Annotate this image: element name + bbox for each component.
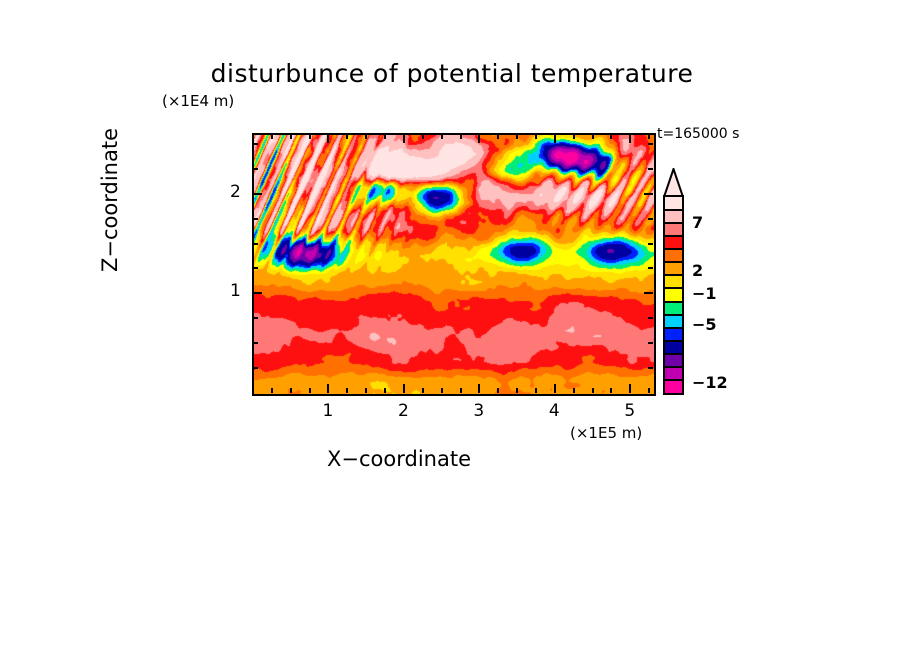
tick-mark (253, 367, 258, 369)
tick-mark (478, 134, 480, 143)
tick-mark (648, 267, 653, 269)
tick-mark (573, 388, 575, 393)
tick-mark (422, 388, 424, 393)
plot-area (252, 133, 656, 396)
x-axis-title: X−coordinate (0, 447, 904, 471)
tick-mark (309, 388, 311, 393)
tick-mark (648, 388, 650, 393)
tick-mark (648, 143, 653, 145)
tick-mark (535, 388, 537, 393)
colorbar-divider (665, 261, 682, 263)
tick-mark (403, 134, 405, 143)
x-tick-label: 1 (322, 401, 333, 421)
tick-mark (384, 134, 386, 139)
colorbar-tick-label: 2 (692, 261, 703, 280)
tick-mark (497, 134, 499, 139)
tick-mark (253, 267, 258, 269)
chart-title: disturbunce of potential temperature (0, 59, 904, 88)
tick-mark (253, 243, 258, 245)
colorbar-tick-label: 7 (692, 213, 703, 232)
colorbar-divider (665, 235, 682, 237)
tick-mark (644, 292, 653, 294)
tick-mark (365, 134, 367, 139)
colorbar (663, 195, 684, 395)
colorbar-tick-label: −5 (692, 315, 717, 334)
colorbar-divider (665, 209, 682, 211)
x-tick-label: 3 (473, 401, 484, 421)
tick-mark (253, 218, 258, 220)
tick-mark (253, 168, 258, 170)
y-axis-title: Z−coordinate (98, 50, 122, 350)
colorbar-tick-label: −12 (692, 373, 728, 392)
tick-mark (253, 143, 258, 145)
tick-mark (592, 134, 594, 139)
tick-mark (365, 388, 367, 393)
tick-mark (346, 388, 348, 393)
tick-mark (648, 243, 653, 245)
tick-mark (460, 134, 462, 139)
colorbar-divider (665, 340, 682, 342)
tick-mark (648, 218, 653, 220)
tick-mark (290, 134, 292, 139)
x-tick-label: 4 (549, 401, 560, 421)
colorbar-swatch (665, 380, 682, 393)
tick-mark (253, 193, 262, 195)
tick-mark (346, 134, 348, 139)
tick-mark (309, 134, 311, 139)
tick-mark (644, 193, 653, 195)
tick-mark (271, 388, 273, 393)
colorbar-divider (665, 287, 682, 289)
tick-mark (629, 384, 631, 393)
colorbar-divider (665, 222, 682, 224)
tick-mark (327, 134, 329, 143)
tick-mark (648, 317, 653, 319)
tick-mark (629, 134, 631, 143)
tick-mark (535, 134, 537, 139)
colorbar-divider (665, 327, 682, 329)
tick-mark (497, 388, 499, 393)
tick-mark (648, 342, 653, 344)
colorbar-divider (665, 353, 682, 355)
colorbar-extend-arrow (661, 168, 686, 197)
tick-mark (253, 292, 262, 294)
colorbar-divider (665, 248, 682, 250)
tick-mark (648, 134, 650, 139)
y-tick-label: 2 (230, 182, 241, 202)
tick-mark (422, 134, 424, 139)
tick-mark (253, 342, 258, 344)
timestamp-annotation: t=165000 s (657, 126, 739, 142)
tick-mark (554, 384, 556, 393)
colorbar-divider (665, 379, 682, 381)
tick-mark (592, 388, 594, 393)
colorbar-tick-label: −1 (692, 284, 717, 303)
z-axis-unit-label: (×1E4 m) (162, 92, 234, 110)
tick-mark (516, 134, 518, 139)
tick-mark (384, 388, 386, 393)
tick-mark (441, 388, 443, 393)
tick-mark (478, 384, 480, 393)
tick-mark (554, 134, 556, 143)
tick-mark (253, 317, 258, 319)
tick-mark (648, 168, 653, 170)
tick-mark (610, 134, 612, 139)
colorbar-divider (665, 274, 682, 276)
x-axis-unit-label: (×1E5 m) (570, 424, 642, 442)
tick-mark (516, 388, 518, 393)
tick-mark (573, 134, 575, 139)
tick-mark (327, 384, 329, 393)
colorbar-divider (665, 366, 682, 368)
contour-field (254, 135, 654, 394)
x-tick-label: 2 (398, 401, 409, 421)
tick-mark (460, 388, 462, 393)
tick-mark (403, 384, 405, 393)
x-tick-label: 5 (624, 401, 635, 421)
colorbar-divider (665, 314, 682, 316)
colorbar-divider (665, 301, 682, 303)
tick-mark (610, 388, 612, 393)
contour-figure: disturbunce of potential temperature (×1… (0, 0, 904, 654)
tick-mark (648, 367, 653, 369)
y-tick-label: 1 (230, 281, 241, 301)
tick-mark (441, 134, 443, 139)
tick-mark (290, 388, 292, 393)
tick-mark (271, 134, 273, 139)
